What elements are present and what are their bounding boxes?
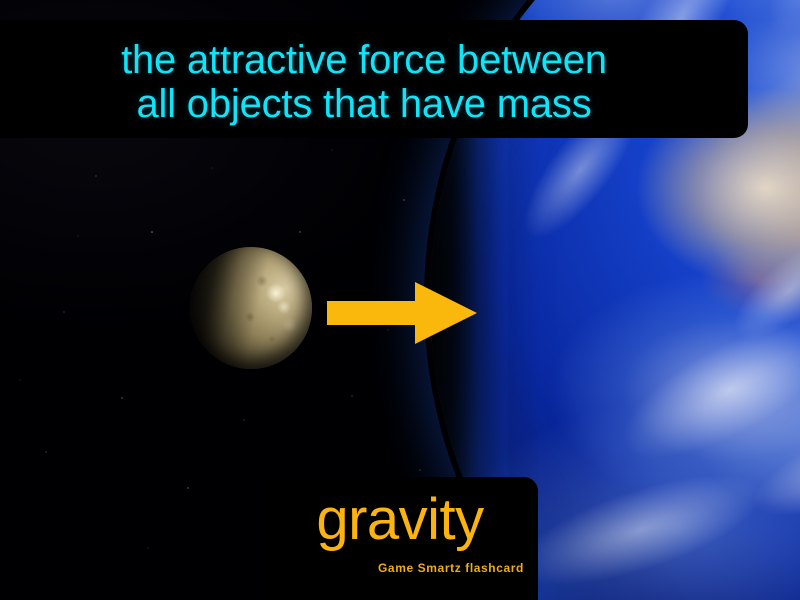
term-plaque: gravity Game Smartz flashcard [262,477,538,600]
definition-text: the attractive force between all objects… [0,38,748,126]
moon-sphere [190,247,312,369]
term-text: gravity [262,487,538,553]
flashcard: the attractive force between all objects… [0,0,800,600]
credit-text: Game Smartz flashcard [262,561,538,575]
arrow-right-icon [327,282,477,344]
definition-plaque: the attractive force between all objects… [0,20,748,138]
